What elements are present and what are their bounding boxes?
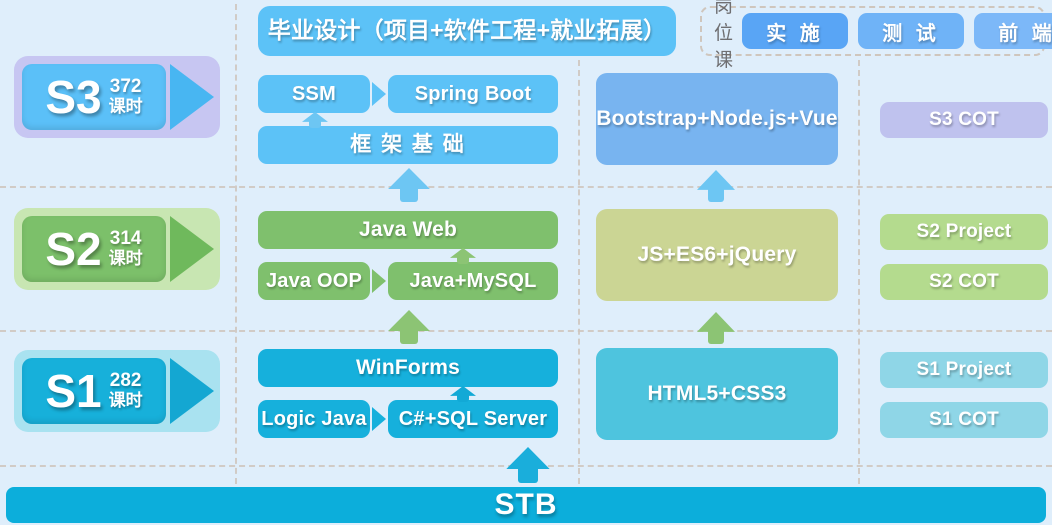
stage-badge-s1-body: S1 282 课时 xyxy=(22,358,166,424)
chevron-s3-ssm-to-springboot xyxy=(372,82,386,106)
arrow-s2-to-s3-left xyxy=(388,168,430,202)
stage-badge-s1-hours: 282 xyxy=(110,371,142,391)
stage-badge-s2-unit: 课时 xyxy=(109,249,143,269)
arrow-s1-to-s2-left xyxy=(388,310,430,344)
arrow-s2-mysql-to-javaweb xyxy=(450,248,476,264)
stage-badge-s1-tip xyxy=(170,358,214,424)
extra-s1-cot[interactable]: S1 COT xyxy=(880,402,1048,438)
chevron-s2-oop-to-mysql xyxy=(372,269,386,293)
stage-badge-s2-name: S2 xyxy=(45,222,101,276)
module-s1-csharpsql[interactable]: C#+SQL Server xyxy=(388,400,558,438)
stage-badge-s3-body: S3 372 课时 xyxy=(22,64,166,130)
extra-s2-project[interactable]: S2 Project xyxy=(880,214,1048,250)
divider-vertical-3 xyxy=(858,60,860,484)
stage-badge-s2[interactable]: S2 314 课时 xyxy=(14,208,220,290)
job-track-label: 岗位课 xyxy=(714,0,734,72)
stage-badge-s3-unit: 课时 xyxy=(109,97,143,117)
stage-badge-s3-name: S3 xyxy=(45,70,101,124)
arrow-s3-framework-to-ssm xyxy=(302,112,328,128)
extra-s3-cot[interactable]: S3 COT xyxy=(880,102,1048,138)
stage-badge-s3-tip xyxy=(170,64,214,130)
module-s2-javaweb[interactable]: Java Web xyxy=(258,211,558,249)
arrow-s2-to-s3-right xyxy=(697,170,735,202)
module-s1-logicjava[interactable]: Logic Java xyxy=(258,400,370,438)
foundation-bar-stb[interactable]: STB xyxy=(6,487,1046,523)
module-s2-web[interactable]: JS+ES6+jQuery xyxy=(596,209,838,301)
module-s1-winforms[interactable]: WinForms xyxy=(258,349,558,387)
arrow-s1-sqlserver-to-winforms xyxy=(450,386,476,402)
stage-badge-s3[interactable]: S3 372 课时 xyxy=(14,56,220,138)
job-pill-1[interactable]: 测 试 xyxy=(858,13,964,49)
job-track-box: 岗位课 实 施 测 试 前 端 xyxy=(700,6,1045,56)
stage-badge-s1-name: S1 xyxy=(45,364,101,418)
divider-vertical-1 xyxy=(235,4,237,484)
extra-s2-cot[interactable]: S2 COT xyxy=(880,264,1048,300)
module-s2-javamysql[interactable]: Java+MySQL xyxy=(388,262,558,300)
job-pill-0[interactable]: 实 施 xyxy=(742,13,848,49)
stage-badge-s3-hours: 372 xyxy=(110,77,142,97)
stage-badge-s2-body: S2 314 课时 xyxy=(22,216,166,282)
divider-vertical-2 xyxy=(578,60,580,484)
stage-badge-s2-tip xyxy=(170,216,214,282)
chevron-s1-logic-to-sqlserver xyxy=(372,407,386,431)
divider-horizontal-2 xyxy=(0,330,1052,332)
stage-badge-s2-hours: 314 xyxy=(110,229,142,249)
capstone-banner[interactable]: 毕业设计（项目+软件工程+就业拓展） xyxy=(258,6,676,56)
module-s3-web[interactable]: Bootstrap+Node.js+Vue xyxy=(596,73,838,165)
divider-horizontal-1 xyxy=(0,186,1052,188)
module-s1-web[interactable]: HTML5+CSS3 xyxy=(596,348,838,440)
module-s3-ssm[interactable]: SSM xyxy=(258,75,370,113)
extra-s1-project[interactable]: S1 Project xyxy=(880,352,1048,388)
arrow-stb-to-s1 xyxy=(506,447,550,483)
arrow-s1-to-s2-right xyxy=(697,312,735,344)
stage-badge-s1[interactable]: S1 282 课时 xyxy=(14,350,220,432)
module-s2-javaoop[interactable]: Java OOP xyxy=(258,262,370,300)
job-pill-2[interactable]: 前 端 xyxy=(974,13,1052,49)
module-s3-springboot[interactable]: Spring Boot xyxy=(388,75,558,113)
module-s3-framework[interactable]: 框 架 基 础 xyxy=(258,126,558,164)
stage-badge-s1-unit: 课时 xyxy=(109,391,143,411)
roadmap-diagram: 毕业设计（项目+软件工程+就业拓展） 岗位课 实 施 测 试 前 端 S3 37… xyxy=(0,0,1052,525)
